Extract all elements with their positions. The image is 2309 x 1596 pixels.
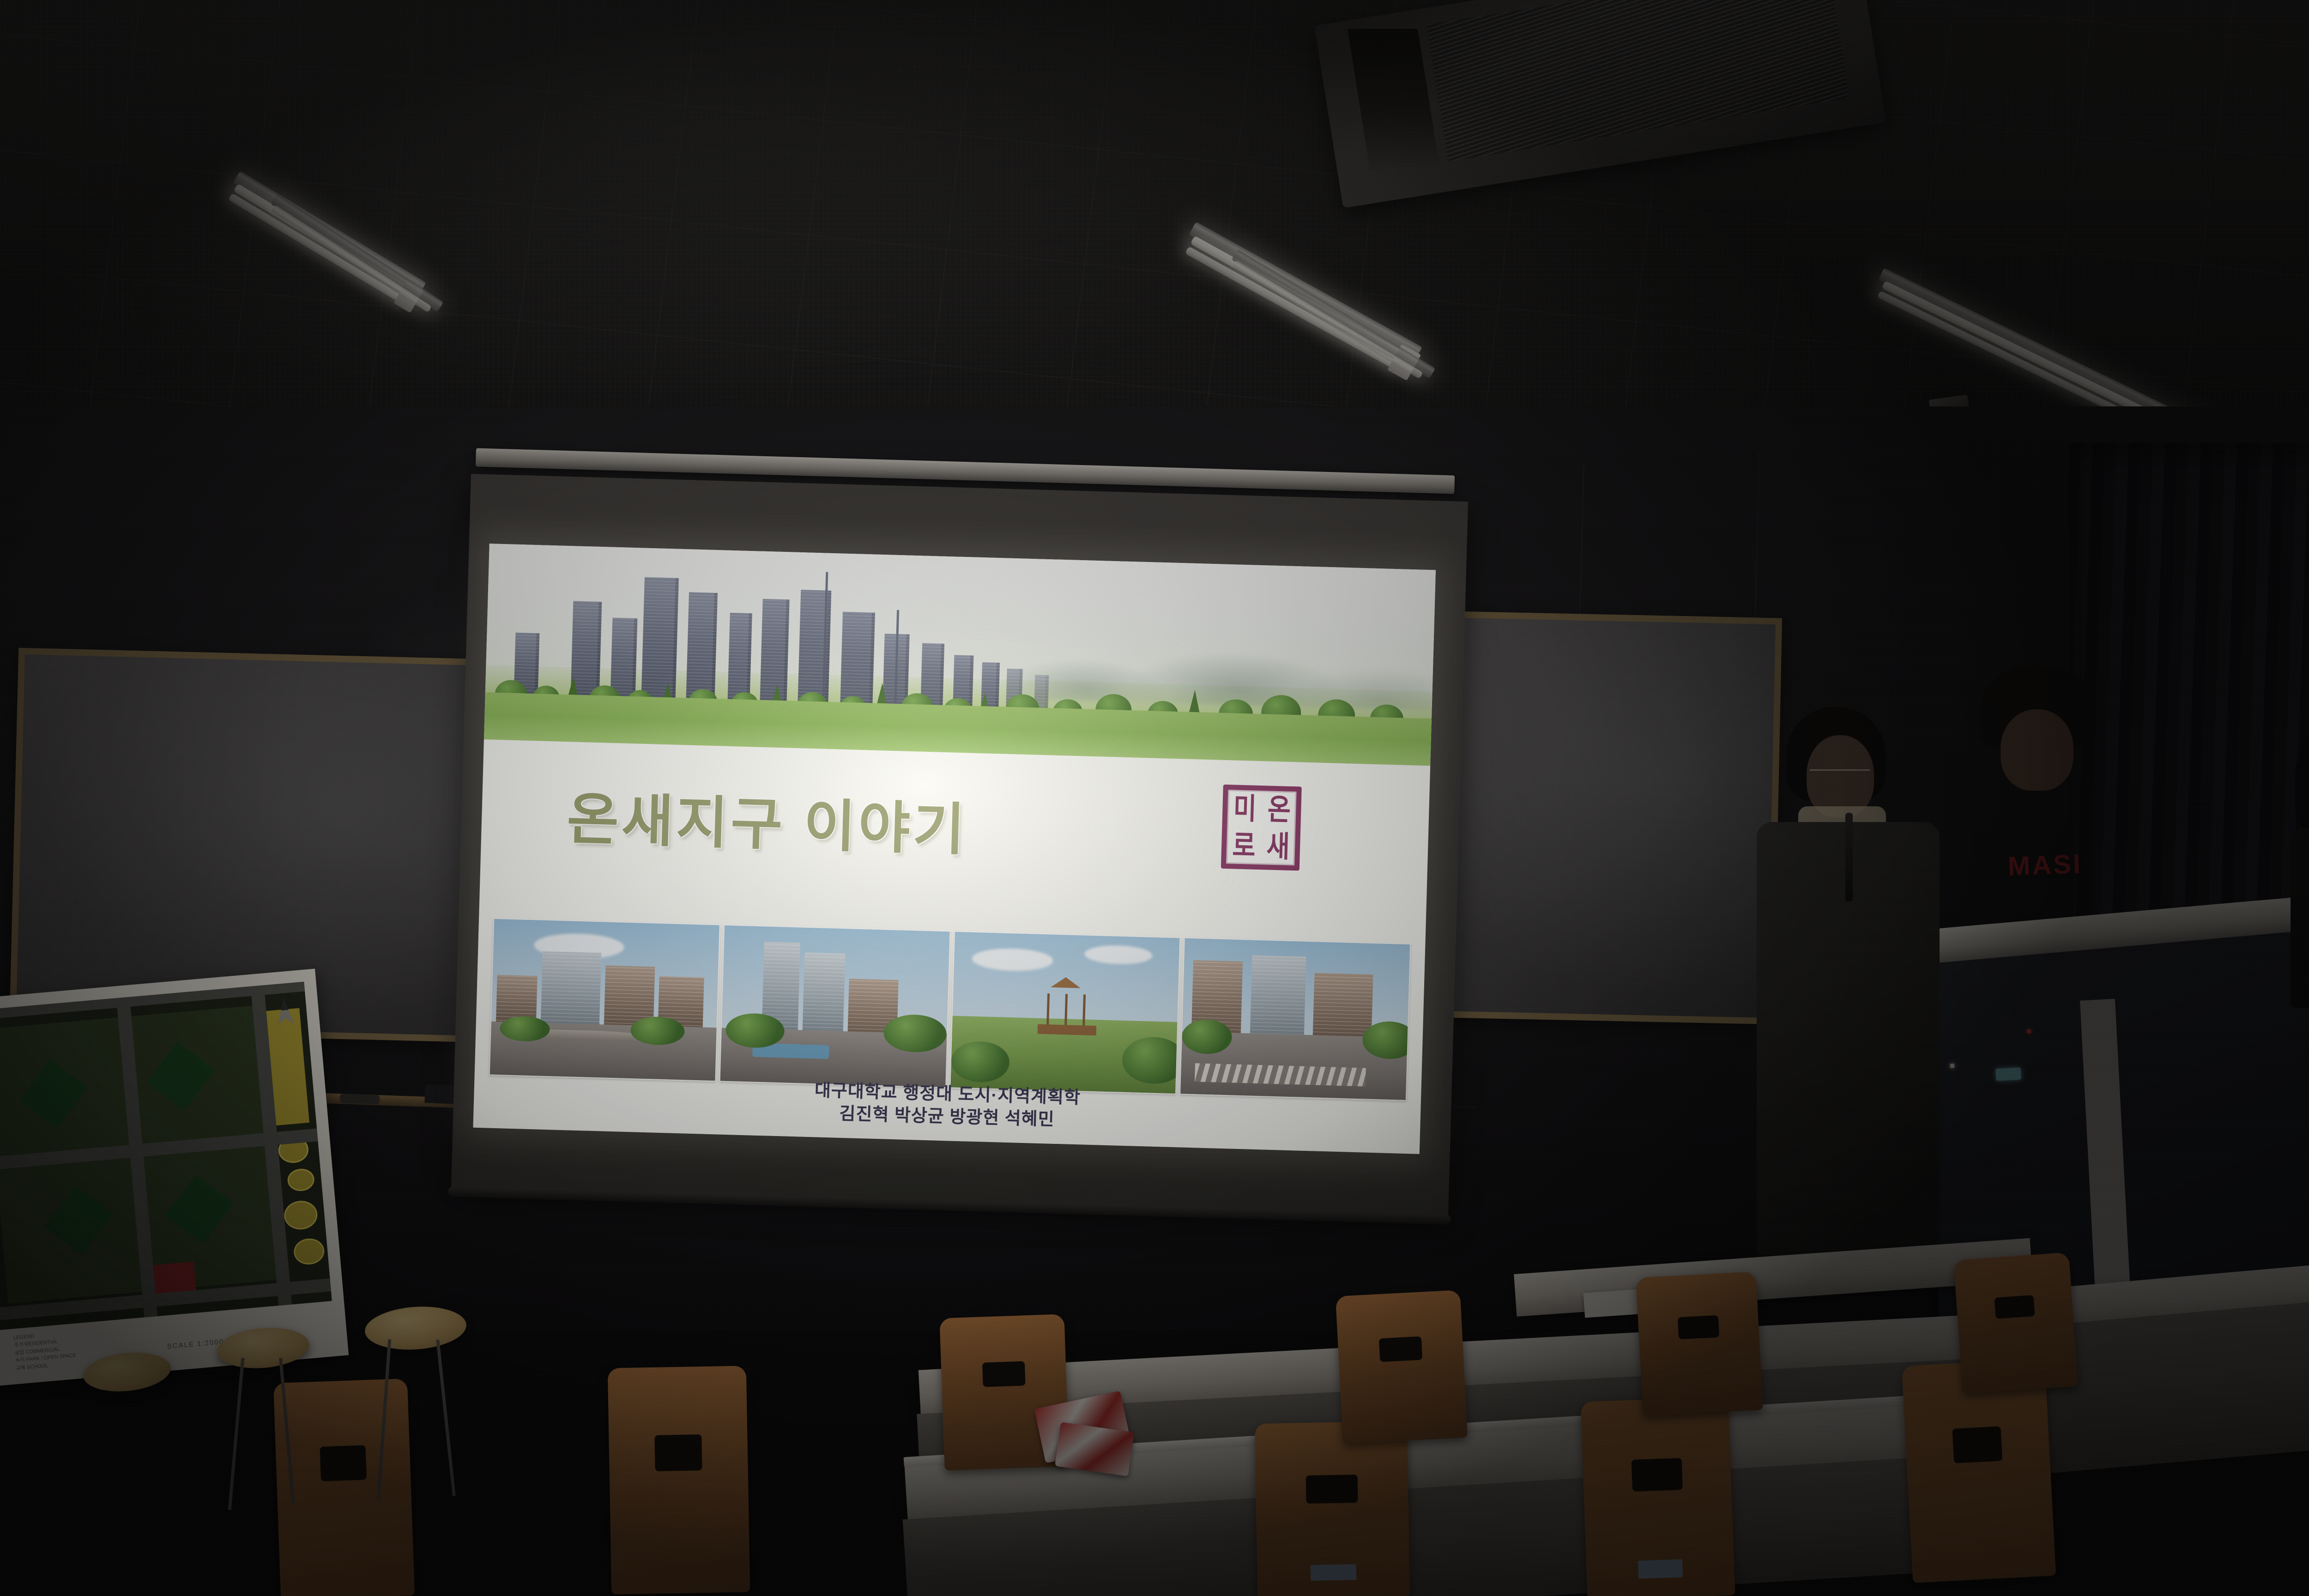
plan-roundabout xyxy=(293,1237,325,1265)
seal-char-2: 온 xyxy=(1267,794,1291,824)
plan-roundabout xyxy=(283,1199,319,1231)
power-led xyxy=(2027,1029,2031,1033)
slide-canvas: 온새지구 이야기 미 온 로 새 xyxy=(473,544,1436,1154)
hoodie xyxy=(1958,779,2152,1019)
display-led xyxy=(1995,1068,2021,1081)
plan-legend: LEGEND 주거 RESIDENTIAL 상업 COMMERCIAL 녹지 P… xyxy=(13,1329,77,1372)
photo-plaza-waterfeature xyxy=(719,924,950,1088)
hair xyxy=(2295,720,2309,836)
head xyxy=(1807,735,1874,817)
air-conditioner-grille xyxy=(1427,0,1850,162)
site-plan-drawing xyxy=(0,982,332,1330)
chair[interactable] xyxy=(1581,1397,1735,1596)
stool-leg xyxy=(228,1358,245,1510)
chair[interactable] xyxy=(1636,1271,1763,1416)
plan-scale-label: SCALE 1:2000 xyxy=(167,1338,224,1351)
plan-roundabout xyxy=(287,1167,315,1192)
chair[interactable] xyxy=(608,1366,750,1594)
photo-boulevard-crossing xyxy=(1179,937,1411,1101)
eyeglasses xyxy=(1809,769,1870,773)
attendee-by-curtain xyxy=(2291,720,2309,1007)
gazebo-roof xyxy=(1051,977,1081,988)
slide-photo-strip xyxy=(489,918,1411,1101)
photo-gazebo-park xyxy=(949,931,1181,1094)
chair-sticker xyxy=(1638,1560,1683,1579)
slide-hero-image xyxy=(484,544,1436,766)
gazebo-deck xyxy=(1038,1024,1096,1035)
torso xyxy=(2291,828,2309,1008)
page-title: 온새지구 이야기 xyxy=(566,791,968,858)
projection-screen: 온새지구 이야기 미 온 로 새 xyxy=(451,474,1468,1217)
stool-leg xyxy=(436,1340,456,1496)
seal-char-3: 로 xyxy=(1232,830,1256,860)
seal-char-1: 미 xyxy=(1233,793,1257,823)
lecture-hall-scene: 온새지구 이야기 미 온 로 새 xyxy=(0,0,2309,1596)
korean-seal-stamp: 미 온 로 새 xyxy=(1221,785,1302,871)
marker xyxy=(340,1094,380,1105)
chair[interactable] xyxy=(1953,1252,2078,1394)
hoodie-logo-text: MASI xyxy=(2007,848,2083,882)
chair[interactable] xyxy=(1255,1421,1410,1596)
screen-weight-bar xyxy=(448,1186,1451,1225)
slide-title-zone: 온새지구 이야기 미 온 로 새 xyxy=(479,739,1430,941)
chair-sticker xyxy=(1311,1564,1357,1581)
air-conditioner-louver xyxy=(1348,29,1440,169)
chair[interactable] xyxy=(1336,1290,1468,1444)
seal-char-4: 새 xyxy=(1266,831,1290,861)
projected-slide: 온새지구 이야기 미 온 로 새 xyxy=(473,544,1436,1154)
chair[interactable] xyxy=(273,1378,415,1596)
site-plan-board: SCALE 1:2000 LEGEND 주거 RESIDENTIAL 상업 CO… xyxy=(0,969,349,1387)
projection-screen-assembly: 온새지구 이야기 미 온 로 새 xyxy=(471,462,1496,1219)
status-led xyxy=(1950,1064,1954,1068)
microphone[interactable] xyxy=(1845,813,1853,901)
lectern-front-panel xyxy=(2080,999,2132,1324)
presenter-with-microphone xyxy=(1750,707,1944,1261)
presenter-in-hoodie: MASI xyxy=(1958,665,2152,1016)
photo-streetscape-bridge xyxy=(489,918,720,1082)
